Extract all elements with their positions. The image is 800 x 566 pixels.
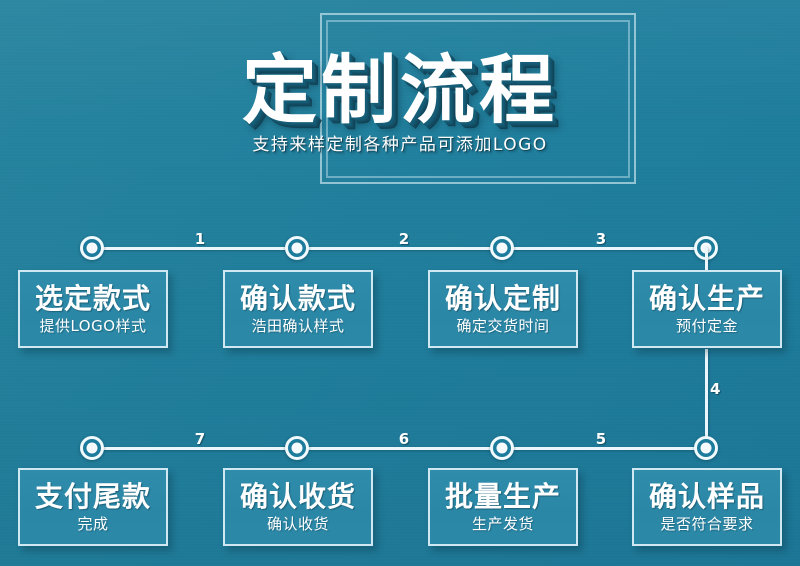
connector-number-2: 2 [392, 230, 416, 248]
connector-number-1: 1 [188, 230, 212, 248]
step-card-2[interactable]: 确认款式 浩田确认样式 [223, 270, 373, 348]
node-step-5[interactable] [490, 436, 514, 460]
node-step-7[interactable] [80, 436, 104, 460]
node-step-3[interactable] [490, 236, 514, 260]
connector-number-7: 7 [188, 430, 212, 448]
step-card-2-title: 确认款式 [240, 283, 356, 315]
node-step-6[interactable] [285, 436, 309, 460]
node-step-2[interactable] [285, 236, 309, 260]
node-step-1[interactable] [80, 236, 104, 260]
connector-number-3: 3 [589, 230, 613, 248]
step-card-1[interactable]: 选定款式 提供LOGO样式 [18, 270, 168, 348]
step-card-4-bottom[interactable]: 确认样品 是否符合要求 [632, 468, 782, 546]
step-card-1-subtitle: 提供LOGO样式 [39, 317, 146, 336]
step-card-3[interactable]: 确认定制 确定交货时间 [428, 270, 578, 348]
step-card-4-subtitle: 预付定金 [676, 317, 738, 336]
step-card-3-subtitle: 确定交货时间 [456, 317, 549, 336]
vertical-connector-4 [705, 349, 708, 447]
step-card-7-subtitle: 完成 [77, 515, 108, 534]
connector-number-4: 4 [710, 380, 734, 398]
step-card-5[interactable]: 批量生产 生产发货 [428, 468, 578, 546]
step-card-4-bottom-title: 确认样品 [649, 481, 765, 513]
step-card-1-title: 选定款式 [35, 283, 151, 315]
connector-number-6: 6 [392, 430, 416, 448]
step-card-7-title: 支付尾款 [35, 481, 151, 513]
step-card-5-title: 批量生产 [445, 481, 561, 513]
customization-process-infographic: 定制流程 支持来样定制各种产品可添加LOGO 1 2 3 4 选定款式 提供LO… [0, 0, 800, 566]
step-card-2-subtitle: 浩田确认样式 [251, 317, 344, 336]
step-card-6[interactable]: 确认收货 确认收货 [223, 468, 373, 546]
node-step-4-bottom[interactable] [694, 436, 718, 460]
step-card-4-title: 确认生产 [649, 283, 765, 315]
step-card-3-title: 确认定制 [445, 283, 561, 315]
stem-node4-to-card [705, 248, 708, 272]
step-card-4[interactable]: 确认生产 预付定金 [632, 270, 782, 348]
step-card-4-bottom-subtitle: 是否符合要求 [660, 515, 753, 534]
connector-number-5: 5 [589, 430, 613, 448]
step-card-5-subtitle: 生产发货 [472, 515, 534, 534]
process-flow: 1 2 3 4 选定款式 提供LOGO样式 确认款式 浩田确认样式 确认定制 确… [0, 0, 800, 566]
step-card-6-title: 确认收货 [240, 481, 356, 513]
step-card-6-subtitle: 确认收货 [267, 515, 329, 534]
step-card-7[interactable]: 支付尾款 完成 [18, 468, 168, 546]
